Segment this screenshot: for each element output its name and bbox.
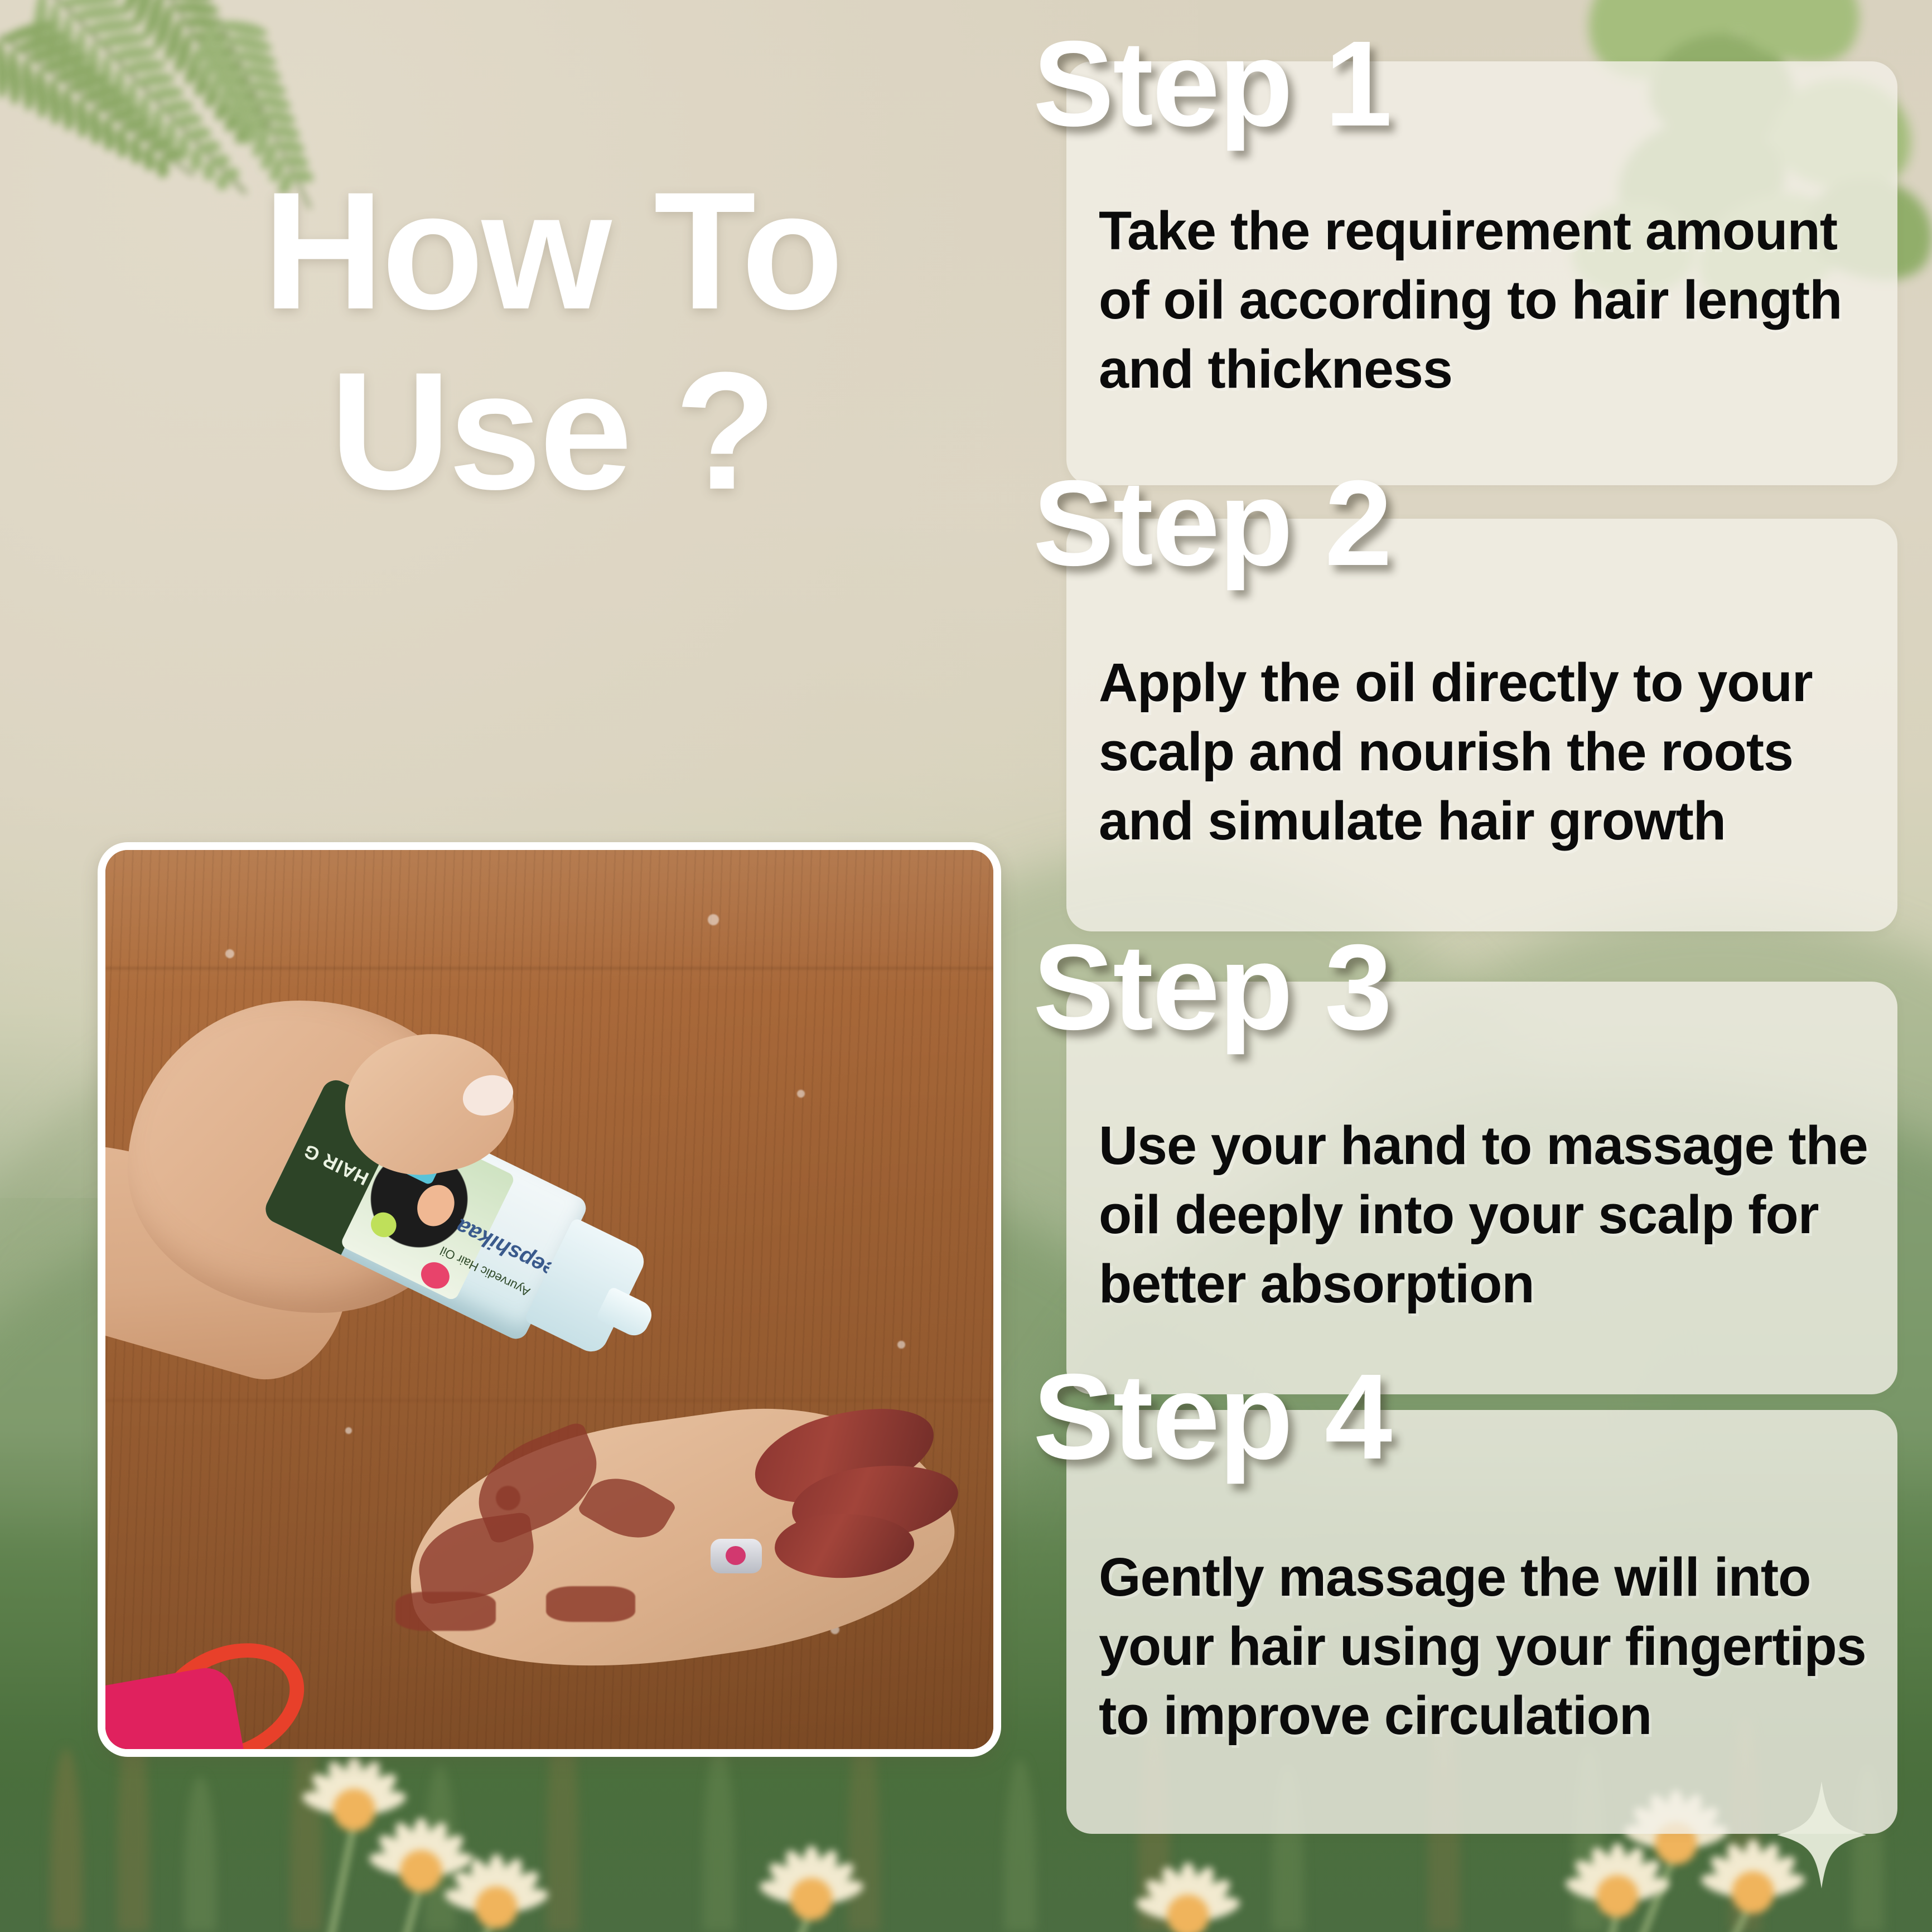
grass-blade: [703, 1742, 735, 1932]
step-1-text: Take the requirement amount of oil accor…: [1099, 196, 1868, 404]
fern-frond: [35, 69, 49, 118]
flower-decoration: [1584, 1863, 1651, 1930]
grass-blade: [184, 1776, 216, 1932]
flower-center: [790, 1878, 833, 1920]
page-title-line-1: How To: [84, 173, 1021, 329]
flower-center: [1596, 1875, 1639, 1917]
step-3-text: Use your hand to massage the oil deeply …: [1099, 1111, 1868, 1318]
flower-decoration: [781, 1868, 842, 1930]
flower-center: [1167, 1895, 1209, 1932]
page-title-line-2: Use ?: [84, 353, 1021, 509]
fern-frond: [7, 49, 21, 105]
fern-frond: [21, 59, 35, 112]
grass-blade: [1004, 1759, 1036, 1932]
fern-frond: [61, 89, 75, 132]
fern-frond: [102, 118, 115, 152]
step-3-heading: Step 3: [1033, 927, 1391, 1049]
sparkle-star-icon: [1777, 1779, 1866, 1891]
flower-center: [333, 1789, 375, 1831]
flower-decoration: [1160, 1888, 1216, 1932]
flower-decoration: [463, 1874, 530, 1932]
product-demo-photo: HAIR G Deepshikaa Ayurvedic Hair Oil: [98, 842, 1001, 1757]
fern-frond: [120, 58, 166, 75]
fern-frond: [89, 108, 102, 144]
fern-frond: [275, 137, 306, 155]
fern-frond: [0, 40, 8, 99]
step-card-4: Step 4 Gently massage the will into your…: [1066, 1410, 1897, 1834]
step-4-heading: Step 4: [1033, 1356, 1391, 1478]
flower-center: [400, 1850, 442, 1892]
fern-frond: [146, 85, 185, 102]
step-1-heading: Step 1: [1033, 23, 1391, 145]
ring-stone: [726, 1546, 746, 1565]
step-card-1: Step 1 Take the requirement amount of oi…: [1066, 61, 1897, 485]
step-2-heading: Step 2: [1033, 463, 1391, 585]
flower-center: [475, 1886, 518, 1929]
step-card-3: Step 3 Use your hand to massage the oil …: [1066, 982, 1897, 1394]
step-2-text: Apply the oil directly to your scalp and…: [1099, 648, 1868, 856]
step-card-2: Step 2 Apply the oil directly to your sc…: [1066, 519, 1897, 931]
fern-frond: [48, 79, 62, 125]
fern-frond: [75, 98, 89, 138]
fern-frond: [115, 128, 129, 158]
fern-frond: [268, 122, 301, 141]
fern-frond: [159, 99, 194, 114]
grass-blade: [50, 1748, 83, 1932]
page-title: How To Use ?: [84, 173, 1021, 509]
fern-frond: [172, 113, 203, 128]
step-4-text: Gently massage the will into your hair u…: [1099, 1543, 1868, 1750]
fern-frond: [133, 72, 176, 89]
fern-frond: [185, 126, 212, 141]
flower-center: [1732, 1871, 1774, 1914]
